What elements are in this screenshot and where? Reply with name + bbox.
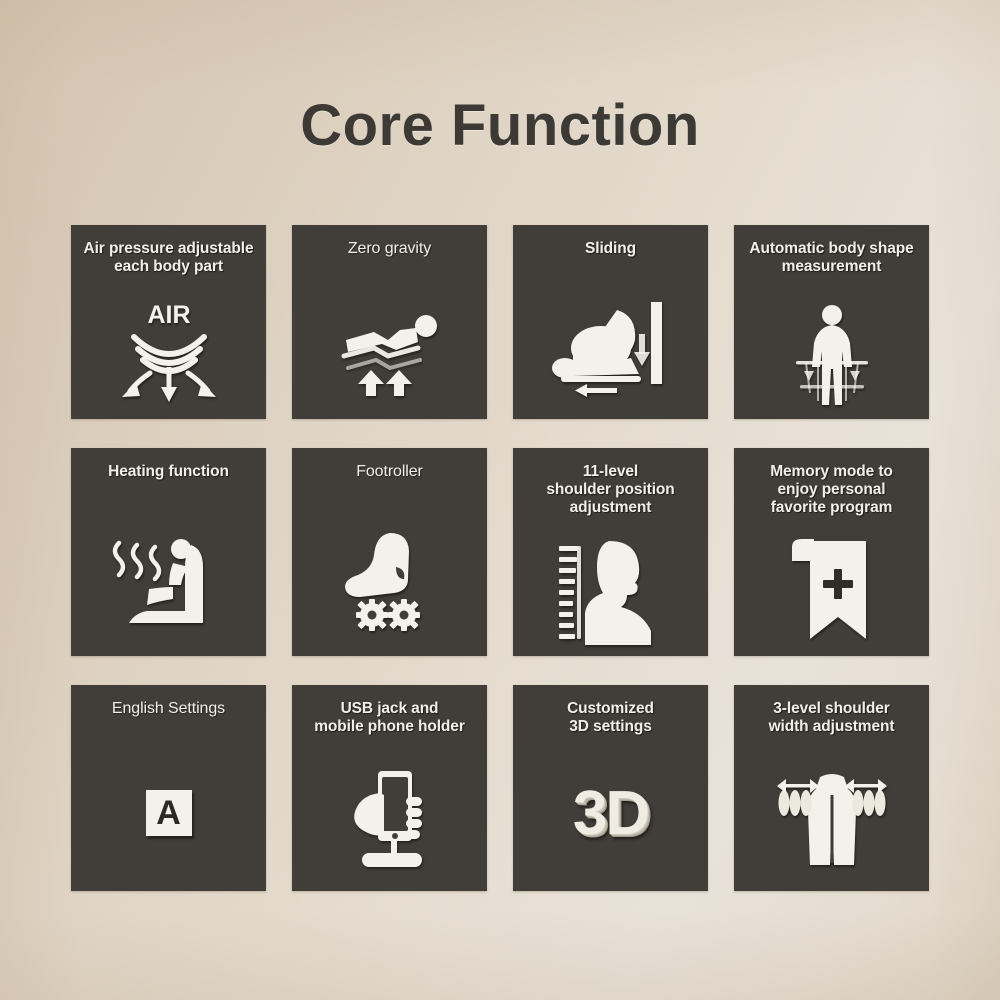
three-d-text-icon: 3D: [513, 685, 708, 891]
body-scan-figure-icon: [734, 225, 929, 419]
feature-tile-memory-mode[interactable]: Memory mode to enjoy personal favorite p…: [734, 448, 929, 656]
letter-a-key-icon: A: [71, 685, 266, 891]
sliding-chair-wall-icon: [513, 225, 708, 419]
feature-tile-shoulder-width[interactable]: 3-level shoulder width adjustment: [734, 685, 929, 891]
feature-tile-3d-settings[interactable]: Customized 3D settings 3D: [513, 685, 708, 891]
phone-holder-hand-icon: [292, 685, 487, 891]
feature-tile-english-settings[interactable]: English Settings A: [71, 685, 266, 891]
foot-roller-icon: [292, 448, 487, 656]
zero-gravity-recline-icon: [292, 225, 487, 419]
feature-tile-body-measurement[interactable]: Automatic body shape measurement: [734, 225, 929, 419]
feature-tile-zero-gravity[interactable]: Zero gravity: [292, 225, 487, 419]
letter-a-glyph: A: [146, 790, 192, 836]
svg-text:AIR: AIR: [147, 301, 190, 329]
shoulder-position-scale-icon: [513, 448, 708, 656]
air-pressure-icon: AIR: [71, 225, 266, 419]
core-function-poster: Core Function Air pressure adjustable ea…: [0, 0, 1000, 1000]
heated-seat-icon: [71, 448, 266, 656]
feature-grid: Air pressure adjustable each body part A…: [71, 225, 931, 891]
feature-tile-heating[interactable]: Heating function: [71, 448, 266, 656]
feature-tile-sliding[interactable]: Sliding: [513, 225, 708, 419]
three-d-glyph: 3D: [573, 778, 648, 849]
feature-tile-air-pressure[interactable]: Air pressure adjustable each body part A…: [71, 225, 266, 419]
feature-tile-footroller[interactable]: Footroller: [292, 448, 487, 656]
feature-tile-shoulder-position[interactable]: 11-level shoulder position adjustment: [513, 448, 708, 656]
shoulder-width-airbag-icon: [734, 685, 929, 891]
feature-tile-usb-phone-holder[interactable]: USB jack and mobile phone holder: [292, 685, 487, 891]
bookmark-plus-icon: [734, 448, 929, 656]
page-title: Core Function: [0, 92, 1000, 159]
